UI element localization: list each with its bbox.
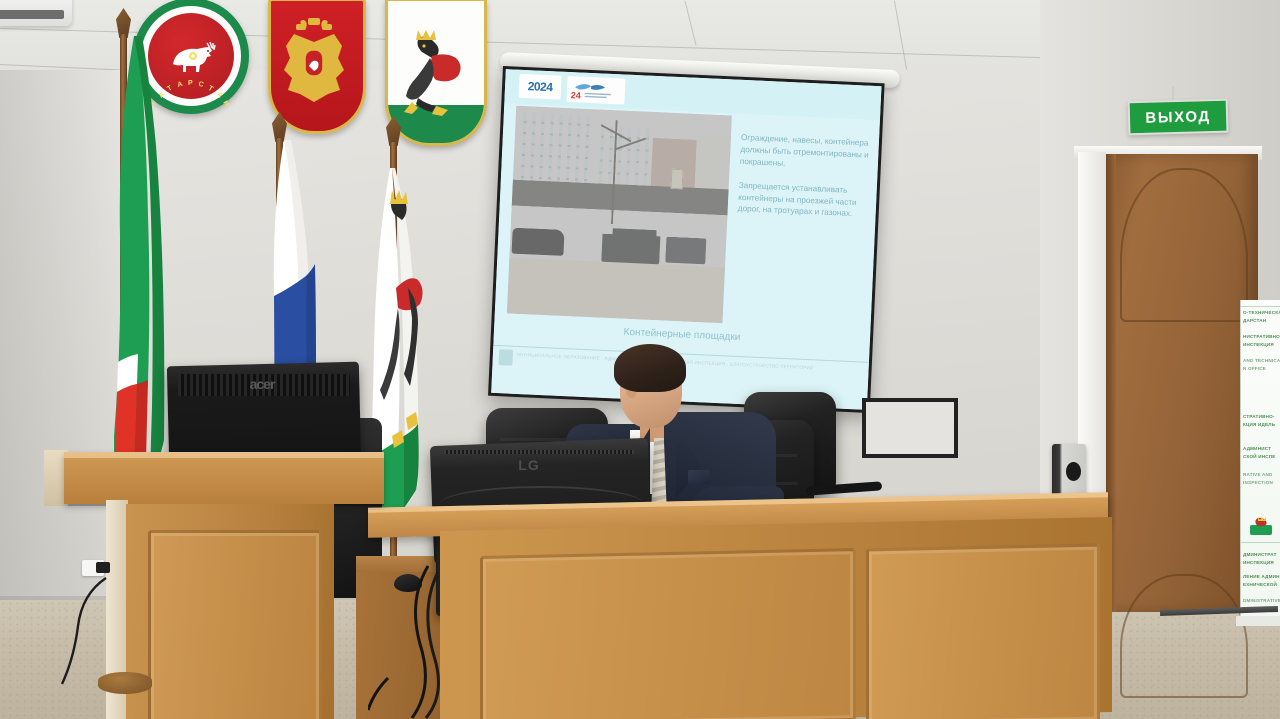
slide-paragraph-2: Запрещается устанавливать контейнеры на … [737,179,870,221]
tatarstan-ring-letter: С [198,81,205,89]
tatarstan-ring-letter: Т [207,85,214,93]
banner-line-13: ИНСПЕКЦИЯ [1243,560,1274,565]
banner-line-4: AND TECHNICAL [1243,358,1280,363]
banner-line-8: АДМИНИСТ [1243,446,1271,451]
flag-stand-base [98,672,152,694]
desk-panel-right [866,544,1100,719]
bird-logo-icon: 24 [566,76,625,105]
banner-line-1: ДАРСТАН [1243,318,1266,323]
lg-monitor-vent [444,450,634,454]
banner-line-3: ИНСПЕКЦИЯ [1243,342,1274,347]
person-hair [614,344,686,392]
conference-room-scene: ТАТАРСТАН [0,0,1280,719]
slide-logo-2024: 2024 [519,74,562,100]
air-conditioner-vent [0,10,64,19]
banner-line-5: N OFFICE [1243,366,1266,371]
banner-line-12: ДМИНИСТРАТ [1243,552,1277,557]
tatarstan-ring-letter: А [215,91,224,100]
exit-sign-wrapper: ВЫХОД [1128,99,1225,132]
wall-outlet-cable [60,572,110,692]
air-conditioner [0,0,72,26]
banner-line-7: КЦИЯ ИДЕЛЬ [1243,422,1275,427]
svg-text:24: 24 [571,90,581,100]
slide-logo-ecology: 24 [566,76,625,105]
exit-sign: ВЫХОД [1128,99,1229,136]
slide-body-text: Ограждение, навесы, контейнера должны бы… [737,132,873,233]
acer-monitor-brand: acer [236,374,288,394]
banner-line-15: ЕХНИЧЕСКОЙ [1243,582,1277,587]
slide-paragraph-1: Ограждение, навесы, контейнера должны бы… [740,132,873,174]
podium-top [64,452,384,504]
desk-panel-left [480,548,856,719]
exit-sign-label: ВЫХОД [1145,108,1211,127]
banner-foot [1236,616,1280,626]
zilant-dragon-icon [392,22,474,126]
podium-front-panel [148,530,322,719]
banner-emblem-icon [1249,512,1273,536]
rollup-banner: О-ТЕХНИЧЕСКАЯ ДАРСТАН НИСТРАТИВНО ИНСПЕК… [1240,300,1280,620]
double-headed-eagle-icon [278,16,350,112]
speaker-cone-icon [1066,462,1081,481]
banner-line-16: DMINISTRATIVE [1243,598,1280,603]
tatarstan-ring-letter: Р [188,80,193,87]
banner-line-9: СКОЙ ИНСПЕ [1243,454,1276,459]
door-panel-top [1120,168,1248,322]
banner-line-11: INSPECTION [1243,480,1273,485]
left-wall-shading [0,70,120,630]
podium-top-highlight [64,452,384,458]
wall-picture-frame [862,398,958,458]
banner-line-0: О-ТЕХНИЧЕСКАЯ [1243,310,1280,315]
banner-line-6: СТРАТИВНО- [1243,414,1275,419]
door-panel-bottom [1120,574,1248,698]
banner-line-2: НИСТРАТИВНО [1243,334,1280,339]
person-pocket-square [688,470,710,484]
banner-line-14: ЛЕНИЕ АДМИН [1243,574,1280,579]
banner-line-10: RATIVE AND [1243,472,1273,477]
lg-monitor-brand: LG [506,456,552,474]
slide-logo-2024-text: 2024 [527,79,552,94]
slide-photo [507,106,732,324]
wooden-door[interactable] [1106,154,1258,612]
slide-footer-seal-icon [498,349,513,366]
